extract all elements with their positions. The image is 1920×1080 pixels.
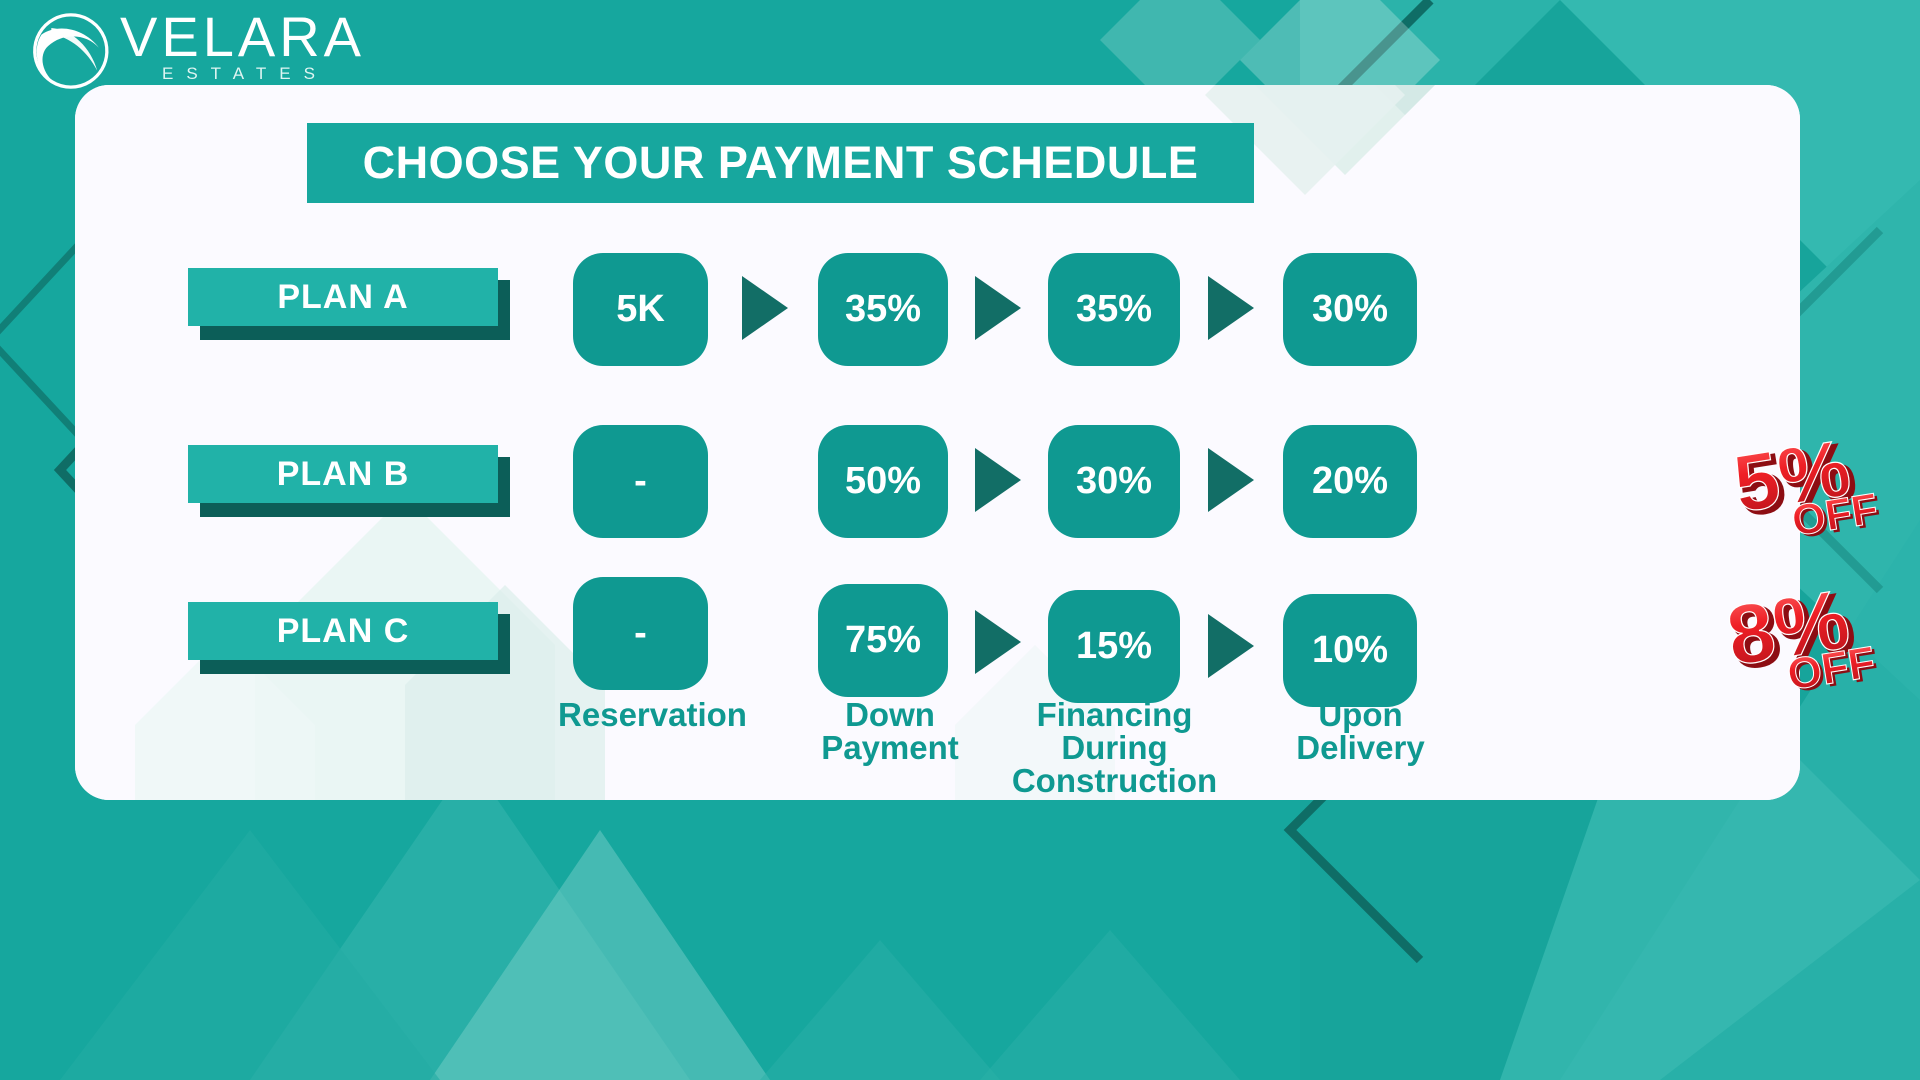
plan-b-cell-reservation[interactable]: - (573, 425, 708, 538)
plan-name: PLAN B (277, 455, 410, 494)
plan-label-c[interactable]: PLAN C (188, 602, 498, 664)
plan-name: PLAN C (277, 612, 410, 651)
arrow-icon-b3 (1208, 448, 1254, 512)
plan-b-cell-financing[interactable]: 30% (1048, 425, 1180, 538)
plan-c-cell-reservation[interactable]: - (573, 577, 708, 690)
plan-a-cell-upon-delivery[interactable]: 30% (1283, 253, 1417, 366)
plan-a-cell-reservation[interactable]: 5K (573, 253, 708, 366)
plan-a-cell-down-payment[interactable]: 35% (818, 253, 948, 366)
plan-a-cell-financing[interactable]: 35% (1048, 253, 1180, 366)
arrow-icon-c2 (975, 610, 1021, 674)
plan-label-front: PLAN A (188, 268, 498, 326)
payment-schedule-table: PLAN A 5K 35% 35% 30% PLAN B - (0, 0, 1920, 1080)
caption-down-payment: Down Payment (760, 698, 1020, 764)
arrow-icon-c3 (1208, 614, 1254, 678)
plan-b-cell-down-payment[interactable]: 50% (818, 425, 948, 538)
brand-tagline: ESTATES (162, 64, 365, 84)
discount-badge-plan-b: 5% 5% OFF OFF (1735, 432, 1910, 547)
brand-name: VELARA (120, 8, 365, 66)
caption-reservation: Reservation (520, 698, 785, 731)
arrow-icon-b2 (975, 448, 1021, 512)
caption-upon-delivery: Upon Delivery (1228, 698, 1493, 764)
plan-b-cell-upon-delivery[interactable]: 20% (1283, 425, 1417, 538)
plan-c-cell-down-payment[interactable]: 75% (818, 584, 948, 697)
velara-swoosh-mark-icon (30, 10, 112, 92)
arrow-icon-a1 (742, 276, 788, 340)
arrow-icon-a2 (975, 276, 1021, 340)
plan-label-front: PLAN B (188, 445, 498, 503)
brand-logo: VELARA ESTATES (30, 8, 365, 92)
discount-badge-plan-c: 8% 8% OFF OFF (1726, 583, 1911, 703)
plan-c-cell-financing[interactable]: 15% (1048, 590, 1180, 703)
arrow-icon-a3 (1208, 276, 1254, 340)
plan-label-front: PLAN C (188, 602, 498, 660)
caption-financing-during-construction: Financing During Construction (982, 698, 1247, 797)
plan-label-b[interactable]: PLAN B (188, 445, 498, 507)
plan-c-cell-upon-delivery[interactable]: 10% (1283, 594, 1417, 707)
plan-label-a[interactable]: PLAN A (188, 268, 498, 330)
plan-name: PLAN A (277, 278, 408, 317)
